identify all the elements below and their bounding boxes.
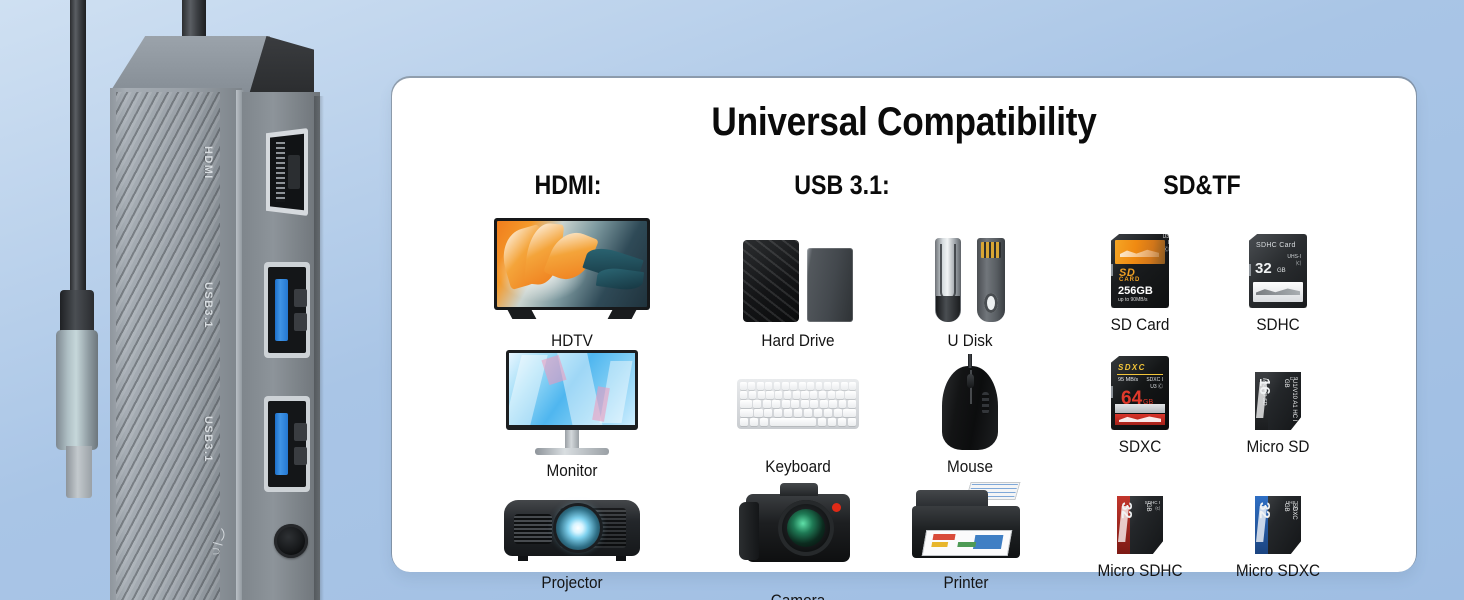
audio-jack bbox=[274, 524, 308, 558]
item-label: SDHC bbox=[1224, 316, 1332, 335]
mouse-scroll-wheel bbox=[967, 374, 974, 388]
camera-lens bbox=[778, 500, 834, 556]
item-label: Hard Drive bbox=[730, 332, 867, 351]
item-mouse: Mouse bbox=[904, 348, 1036, 477]
camera-body bbox=[746, 494, 850, 562]
micro-sdhc-card-body: 32 GB SDHC I ⒞ bbox=[1117, 496, 1163, 554]
item-sdhc: SDHC Card 32 GB UHS-I ⒞ SDHC bbox=[1218, 220, 1338, 335]
mouse-side-buttons bbox=[982, 392, 989, 414]
micro-sd-card-body: MICRO SD 16 GB U1/V10 A1 HC I C10 bbox=[1255, 372, 1301, 430]
monitor-screen bbox=[509, 353, 635, 425]
micro-sd-card-icon: MICRO SD 16 GB U1/V10 A1 HC I C10 bbox=[1255, 342, 1301, 430]
flash-drive-open bbox=[977, 238, 1005, 322]
usb-port-cavity bbox=[268, 267, 306, 353]
printer-body-group bbox=[912, 482, 1020, 558]
item-label: Micro SDHC bbox=[1079, 562, 1201, 581]
printer-output-tray bbox=[922, 530, 1013, 556]
sdhc-card-body: SDHC Card 32 GB UHS-I ⒞ bbox=[1249, 234, 1307, 308]
item-label: SDXC bbox=[1086, 438, 1194, 457]
camera-indicator-dot bbox=[832, 503, 841, 512]
item-sdxc: SDXC 95 MB/s SDXC I U3 Ⓒ 64 GB SDXC bbox=[1080, 342, 1200, 457]
monitor-bezel bbox=[506, 350, 638, 430]
sdxc-card-icon: SDXC 95 MB/s SDXC I U3 Ⓒ 64 GB bbox=[1111, 342, 1169, 430]
column-heading-sdtf: SD&TF bbox=[1073, 170, 1331, 201]
flash-drive-connector bbox=[981, 242, 1001, 258]
item-micro-sd: MICRO SD 16 GB U1/V10 A1 HC I C10 Micro … bbox=[1218, 342, 1338, 457]
hub-side-shadow bbox=[314, 96, 324, 600]
compatibility-panel: Universal Compatibility HDMI: USB 3.1: S… bbox=[392, 78, 1416, 572]
usb-31-port-2-label: USB3.1 bbox=[202, 416, 214, 463]
usb-31-port-2 bbox=[264, 396, 310, 492]
sdhc-card-icon: SDHC Card 32 GB UHS-I ⒞ bbox=[1249, 220, 1307, 308]
usb-port-contact-top bbox=[294, 423, 307, 441]
item-u-disk: U Disk bbox=[900, 218, 1040, 351]
usb-port-blue-insert bbox=[275, 413, 288, 475]
sd-card-write-notch bbox=[1109, 264, 1113, 276]
projector-lens bbox=[556, 506, 600, 550]
printer-icon bbox=[912, 482, 1020, 564]
item-keyboard: Keyboard bbox=[714, 356, 882, 477]
camera-icon bbox=[746, 494, 850, 578]
monitor-stand-base bbox=[535, 448, 609, 455]
item-label: SD Card bbox=[1086, 316, 1194, 335]
sdhc-unit: GB bbox=[1277, 268, 1286, 274]
item-label: Monitor bbox=[496, 462, 647, 481]
mouse-cable bbox=[968, 354, 972, 368]
micro-sd-meta: U1/V10 A1 HC I bbox=[1291, 379, 1297, 421]
sdhc-write-notch bbox=[1247, 264, 1251, 276]
sdxc-divider bbox=[1117, 374, 1163, 375]
micro-sdxc-card-icon: 32 GB SDXC UHS I ⒞ bbox=[1255, 466, 1301, 554]
usb-port-blue-insert bbox=[275, 279, 288, 341]
usb-port-contact-bottom bbox=[294, 313, 307, 331]
hdmi-port-pins bbox=[276, 142, 285, 202]
column-heading-usb: USB 3.1: bbox=[730, 170, 954, 201]
mouse-body bbox=[942, 366, 998, 450]
hard-drive-gray bbox=[807, 248, 853, 322]
hdmi-port-tab bbox=[288, 155, 300, 189]
projector-vents bbox=[514, 514, 552, 544]
hdtv-bezel bbox=[494, 218, 650, 310]
item-sd-card: SD CARD 256GB up to 90MB/s U3 I Ⓒ SD Car… bbox=[1080, 220, 1200, 335]
item-label: Mouse bbox=[911, 458, 1030, 477]
item-label: Micro SD bbox=[1224, 438, 1332, 457]
micro-sdxc-card-body: 32 GB SDXC UHS I ⒞ bbox=[1255, 496, 1301, 554]
item-printer: Printer bbox=[890, 476, 1042, 593]
item-label: Printer bbox=[898, 574, 1035, 593]
micro-sd-badge: C10 bbox=[1290, 376, 1298, 382]
sdxc-badges: SDXC I U3 Ⓒ bbox=[1146, 377, 1163, 390]
sd-card-body: SD CARD 256GB up to 90MB/s U3 I Ⓒ bbox=[1111, 234, 1169, 308]
sd-card-icon: SD CARD 256GB up to 90MB/s U3 I Ⓒ bbox=[1111, 220, 1169, 308]
brand-logo bbox=[1256, 288, 1300, 295]
keyboard-icon bbox=[737, 356, 859, 452]
camera-lens-glass bbox=[787, 509, 825, 547]
hdtv-icon bbox=[494, 218, 650, 322]
usb-flash-drive-icon bbox=[927, 218, 1013, 322]
hdtv-stand-left bbox=[508, 310, 537, 319]
hdtv-screen bbox=[497, 221, 647, 307]
camera-grip bbox=[739, 502, 759, 560]
micro-sd-capacity: 16 bbox=[1256, 378, 1273, 395]
micro-sd-unit: GB bbox=[1283, 379, 1289, 388]
usb-c-plug-sleeve bbox=[56, 330, 98, 450]
hard-drive-black bbox=[743, 240, 799, 322]
mouse-icon bbox=[942, 348, 998, 450]
camera-viewfinder bbox=[780, 483, 818, 496]
micro-sdhc-card-icon: 32 GB SDHC I ⒞ bbox=[1117, 466, 1163, 554]
hdtv-stand-right bbox=[608, 310, 637, 319]
sdhc-title: SDHC Card bbox=[1256, 242, 1296, 249]
hub-top-face bbox=[110, 36, 270, 92]
brand-logo bbox=[1120, 249, 1159, 257]
micro-sdhc-badge: SDHC I ⒞ bbox=[1145, 500, 1160, 512]
monitor-icon bbox=[506, 350, 638, 456]
sd-card-subtype: CARD bbox=[1119, 277, 1140, 283]
flash-drive-clip bbox=[940, 244, 956, 300]
sdhc-label-strip bbox=[1253, 282, 1303, 302]
flash-drive-keyring-hole bbox=[984, 293, 998, 313]
micro-sdhc-capacity: 32 bbox=[1118, 502, 1135, 519]
sd-card-orange-band bbox=[1115, 240, 1165, 264]
projector-body bbox=[504, 500, 640, 556]
sdxc-title: SDXC bbox=[1118, 363, 1146, 372]
keyboard-body bbox=[737, 379, 859, 429]
sdxc-silver-strip bbox=[1115, 404, 1165, 413]
usb-port-cavity bbox=[268, 401, 306, 487]
hard-drive-icon bbox=[739, 218, 857, 322]
usb-c-plug-tip bbox=[66, 446, 92, 498]
micro-sdxc-capacity: 32 bbox=[1256, 502, 1273, 519]
micro-sdxc-badge: UHS I ⒞ bbox=[1286, 500, 1298, 512]
item-label: HDTV bbox=[496, 332, 647, 351]
sdxc-card-body: SDXC 95 MB/s SDXC I U3 Ⓒ 64 GB bbox=[1111, 356, 1169, 430]
sdxc-speed: 95 MB/s bbox=[1118, 377, 1138, 383]
projector-icon bbox=[504, 500, 640, 562]
flash-drive-cap bbox=[936, 296, 960, 322]
item-micro-sdxc: 32 GB SDXC UHS I ⒞ Micro SDXC bbox=[1210, 466, 1346, 581]
item-label: Micro SDXC bbox=[1217, 562, 1339, 581]
page-title: Universal Compatibility bbox=[453, 100, 1354, 145]
column-heading-hdmi: HDMI: bbox=[473, 170, 662, 201]
item-label: Keyboard bbox=[722, 458, 873, 477]
item-micro-sdhc: 32 GB SDHC I ⒞ Micro SDHC bbox=[1072, 466, 1208, 581]
sdhc-capacity: 32 bbox=[1255, 260, 1272, 277]
usb-port-contact-bottom bbox=[294, 447, 307, 465]
usb-31-port-1-label: USB3.1 bbox=[202, 282, 214, 329]
sdxc-red-strip bbox=[1115, 414, 1165, 425]
sd-card-speed: up to 90MB/s bbox=[1118, 297, 1147, 303]
item-camera: Camera bbox=[722, 480, 874, 600]
usb-port-contact-top bbox=[294, 289, 307, 307]
sd-card-capacity: 256GB bbox=[1118, 285, 1153, 297]
product-photo: HDMI USB3.1 USB3.1 ⌒/∩ bbox=[0, 0, 360, 600]
sdxc-write-notch bbox=[1109, 386, 1113, 398]
item-label: Projector bbox=[496, 574, 647, 593]
hdmi-port-label: HDMI bbox=[202, 146, 214, 180]
item-hard-drive: Hard Drive bbox=[722, 218, 874, 351]
item-monitor: Monitor bbox=[488, 350, 656, 481]
item-hdtv: HDTV bbox=[488, 218, 656, 351]
item-projector: Projector bbox=[488, 486, 656, 593]
sdhc-speed: UHS-I ⒞ bbox=[1287, 254, 1301, 267]
monitor-stand-neck bbox=[565, 430, 579, 448]
brand-logo bbox=[1119, 416, 1161, 422]
item-label: Camera bbox=[730, 592, 867, 600]
usb-31-port-1 bbox=[264, 262, 310, 358]
flash-drive-capped bbox=[935, 238, 961, 322]
headphone-jack-icon: ⌒/∩ bbox=[209, 528, 228, 557]
